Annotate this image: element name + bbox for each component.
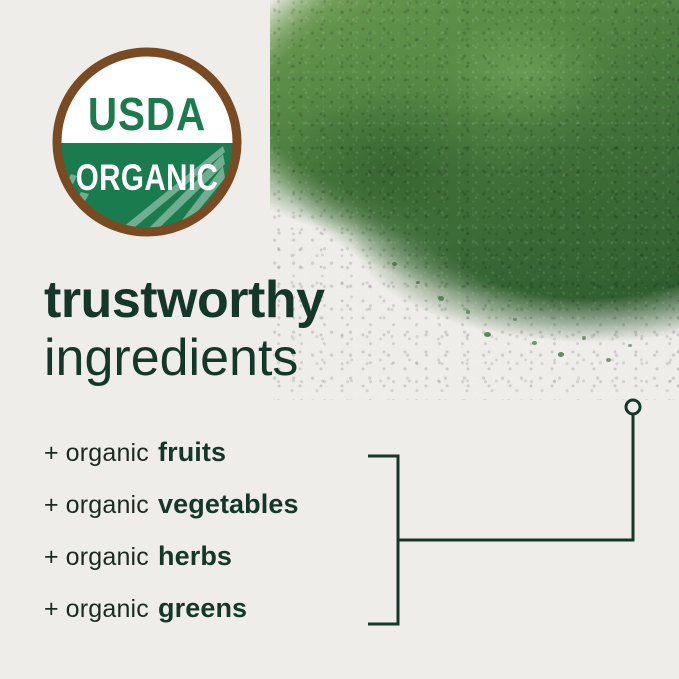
seal-organic-text: ORGANIC [76,158,219,199]
powder-speck [628,344,632,347]
page-title: trustworthy ingredients [44,272,464,387]
list-item: + organic vegetables [44,489,384,541]
usda-organic-seal-svg: USDA ORGANIC [47,42,247,242]
list-item: + organic herbs [44,541,384,593]
headline-line-ingredients: ingredients [44,330,464,387]
list-item-prefix: organic [66,543,149,572]
bracket-pointer-svg [360,390,660,640]
powder-speck [582,336,586,340]
plus-icon: + [44,543,59,572]
list-item-prefix: organic [66,439,149,468]
powder-speck [532,341,537,345]
list-item-term-vegetables: vegetables [158,489,299,520]
list-item: + organic greens [44,593,384,645]
headline-line-trustworthy: trustworthy [44,272,464,328]
powder-speck [306,156,310,159]
plus-icon: + [44,595,59,624]
list-item-term-herbs: herbs [158,541,232,572]
bracket-pointer [360,390,660,640]
list-item-prefix: organic [66,491,149,520]
seal-usda-text: USDA [88,90,206,141]
plus-icon: + [44,439,59,468]
product-feature-graphic: USDA ORGANIC trustworthy ingredients + o… [0,0,679,679]
powder-speck [484,332,491,337]
powder-speck [466,310,470,314]
list-item: + organic fruits [44,437,384,489]
ingredient-list: + organic fruits + organic vegetables + … [44,437,384,645]
powder-speck [334,196,338,200]
list-item-prefix: organic [66,595,149,624]
powder-speck [322,172,327,176]
list-item-term-greens: greens [158,593,247,624]
powder-speck [606,358,611,362]
bracket-endpoint-circle-icon [626,400,640,414]
bracket-lead-line [398,415,633,540]
plus-icon: + [44,491,59,520]
powder-speck [558,352,564,357]
powder-speck [392,262,397,266]
usda-organic-seal: USDA ORGANIC [47,42,247,242]
powder-speck [513,318,517,321]
list-item-term-fruits: fruits [158,437,226,468]
